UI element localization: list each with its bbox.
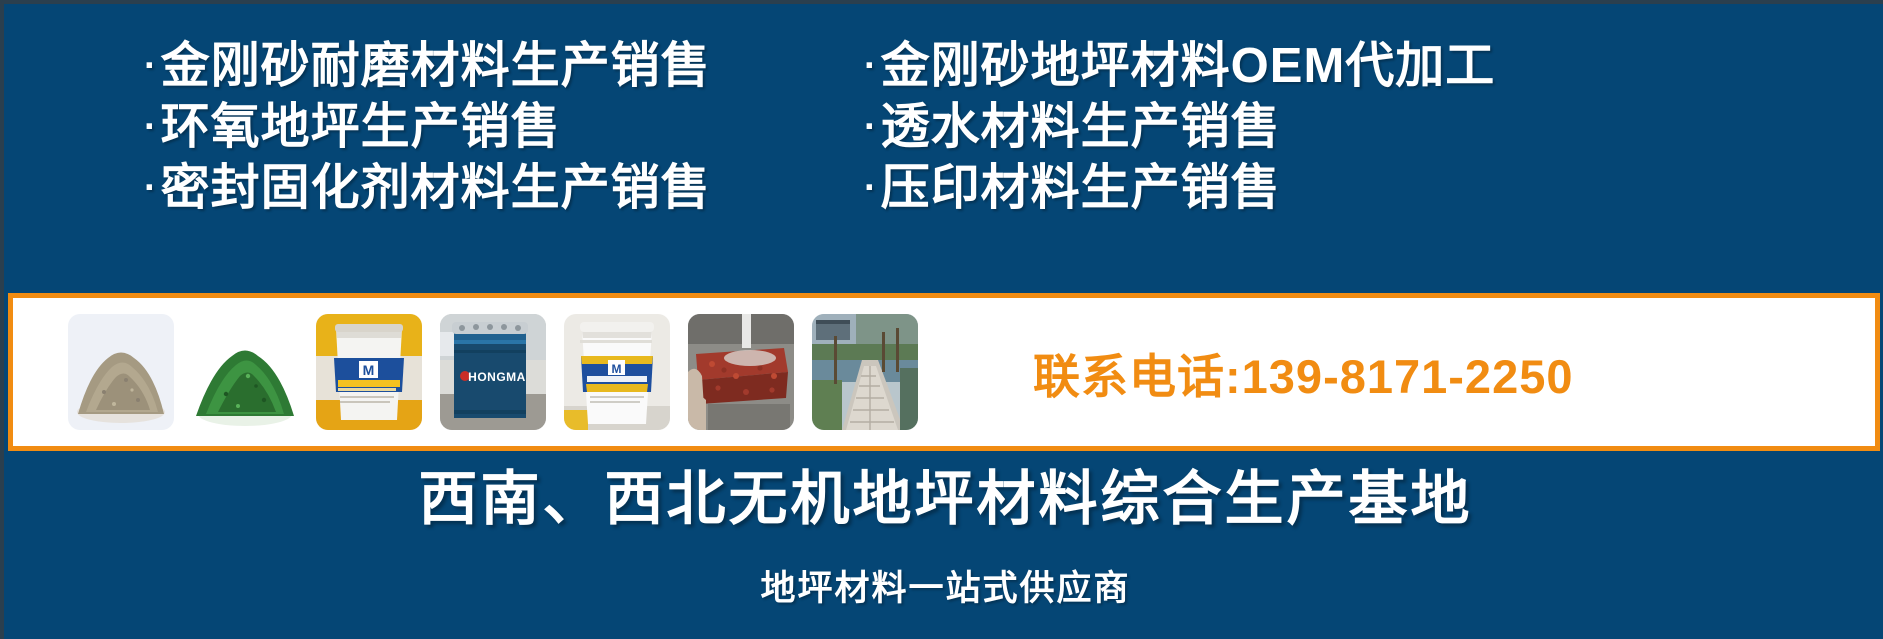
main-headline: 西南、西北无机地坪材料综合生产基地 xyxy=(4,466,1883,532)
bullet-dot-icon: · xyxy=(144,38,158,95)
feature-list-left: · 金刚砂耐磨材料生产销售 · 环氧地坪生产销售 · 密封固化剂材料生产销售 xyxy=(4,38,774,221)
green-abrasive-powder-photo xyxy=(192,314,298,430)
feature-item: · 密封固化剂材料生产销售 xyxy=(144,160,774,221)
sub-headline: 地坪材料一站式供应商 xyxy=(4,560,1883,611)
sealer-pail-photo: M xyxy=(316,314,422,430)
feature-item-label: 环氧地坪生产销售 xyxy=(161,99,561,156)
feature-item: · 金刚砂耐磨材料生产销售 xyxy=(144,38,774,99)
feature-item-label: 金刚砂地坪材料OEM代加工 xyxy=(881,38,1496,95)
bullet-dot-icon: · xyxy=(144,99,158,156)
svg-text:M: M xyxy=(363,362,375,378)
feature-item: · 透水材料生产销售 xyxy=(864,99,1774,160)
epoxy-coating-pail-photo: M xyxy=(564,314,670,430)
svg-text:M: M xyxy=(612,362,622,376)
bullet-dot-icon: · xyxy=(864,38,878,95)
permeable-concrete-sample-photo xyxy=(688,314,794,430)
grey-abrasive-powder-photo xyxy=(68,314,174,430)
hongma-blue-drum-photo: HONGMA xyxy=(440,314,546,430)
feature-item-label: 透水材料生产销售 xyxy=(881,99,1281,156)
contact-phone-text: 联系电话:139-8171-2250 xyxy=(1033,338,1574,407)
product-thumbnail-row: M xyxy=(68,314,918,430)
bullet-dot-icon: · xyxy=(144,160,158,217)
feature-item: · 环氧地坪生产销售 xyxy=(144,99,774,160)
feature-item: · 金刚砂地坪材料OEM代加工 xyxy=(864,38,1774,99)
feature-item: · 压印材料生产销售 xyxy=(864,160,1774,221)
stamped-pavement-photo xyxy=(812,314,918,430)
bullet-dot-icon: · xyxy=(864,160,878,217)
promotional-banner: · 金刚砂耐磨材料生产销售 · 环氧地坪生产销售 · 密封固化剂材料生产销售 ·… xyxy=(0,0,1883,639)
feature-lists: · 金刚砂耐磨材料生产销售 · 环氧地坪生产销售 · 密封固化剂材料生产销售 ·… xyxy=(4,38,1883,288)
bullet-dot-icon: · xyxy=(864,99,878,156)
feature-item-label: 压印材料生产销售 xyxy=(881,160,1281,217)
svg-text:HONGMA: HONGMA xyxy=(468,370,526,384)
product-showcase-panel: M xyxy=(8,293,1880,451)
feature-list-right: · 金刚砂地坪材料OEM代加工 · 透水材料生产销售 · 压印材料生产销售 xyxy=(774,38,1774,221)
feature-item-label: 密封固化剂材料生产销售 xyxy=(161,160,711,217)
feature-item-label: 金刚砂耐磨材料生产销售 xyxy=(161,38,711,95)
